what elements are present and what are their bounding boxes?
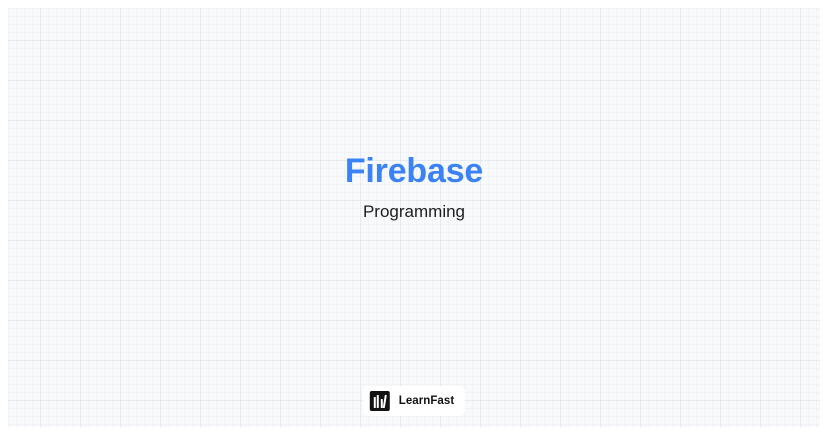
- icon-bar-2: [377, 395, 379, 408]
- brand-badge: LearnFast: [363, 386, 465, 416]
- page-title: Firebase: [0, 150, 828, 192]
- page-subtitle: Programming: [0, 201, 828, 223]
- slide-title-block: Firebase Programming: [0, 150, 828, 223]
- brand-name-label: LearnFast: [399, 395, 454, 407]
- icon-bar-4: [383, 395, 387, 408]
- books-bars-icon: [370, 391, 390, 411]
- title-slide: Firebase Programming LearnFast: [0, 0, 828, 435]
- icon-bar-1: [374, 397, 376, 408]
